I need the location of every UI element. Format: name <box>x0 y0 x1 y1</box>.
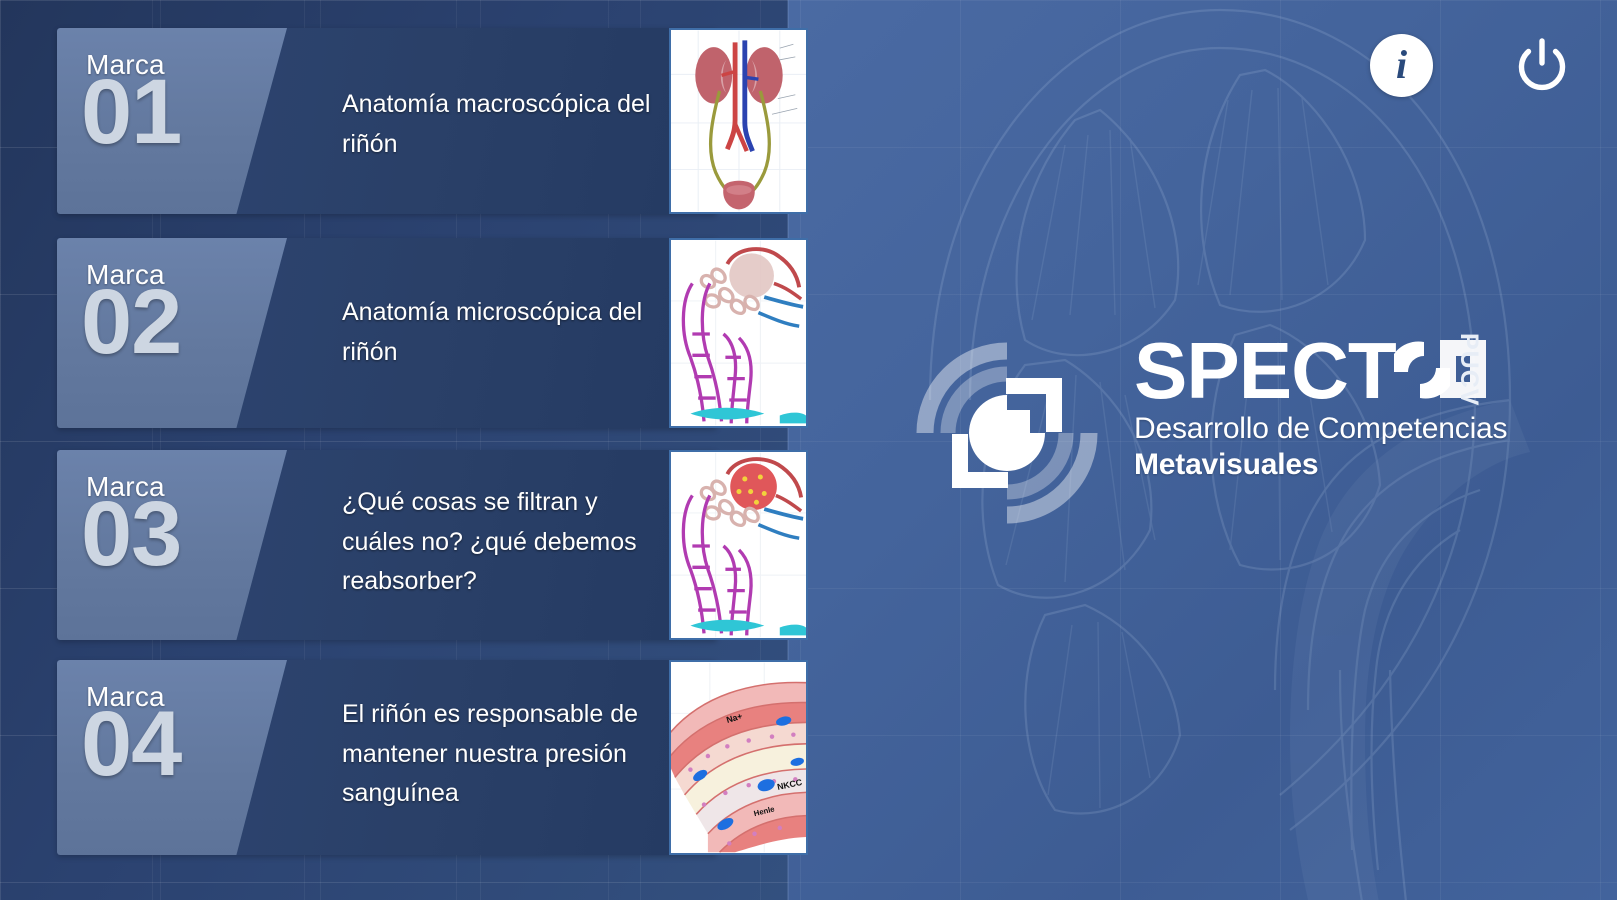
card-title: Anatomía microscópica del riñón <box>342 293 662 372</box>
info-icon: i <box>1370 34 1433 97</box>
logo-subtitle-line2: Metavisuales <box>1134 448 1514 482</box>
pucv-label: PUCV <box>1454 333 1483 406</box>
top-toolbar: i <box>1370 34 1573 97</box>
specto-wordmark-block: SPECT PUCV Desarrollo de Competencias Me… <box>1134 330 1514 482</box>
specto-wordmark: SPECT PUCV <box>1134 330 1514 416</box>
card-marker-number: 01 <box>81 66 181 158</box>
card-marker-number: 02 <box>81 276 181 368</box>
list-item[interactable]: Marca 03 ¿Qué cosas se filtran y cuáles … <box>57 450 775 640</box>
nephron-glomerulus-diagram <box>671 452 806 638</box>
power-icon <box>1511 35 1573 97</box>
card-title: El riñón es responsable de mantener nues… <box>342 695 662 814</box>
card-thumbnail[interactable] <box>669 238 808 428</box>
card-thumbnail[interactable] <box>669 28 808 214</box>
card-marker-number: 03 <box>81 488 181 580</box>
card-title: Anatomía macroscópica del riñón <box>342 85 662 164</box>
tubule-wall-cross-section: Na+ NKCC Henle <box>671 662 806 853</box>
list-item[interactable]: Marca 01 Anatomía macroscópica del riñón <box>57 28 775 214</box>
card-thumbnail[interactable] <box>669 450 808 640</box>
info-icon-letter: i <box>1396 45 1407 85</box>
logo-subtitle-line1: Desarrollo de Competencias <box>1134 412 1514 446</box>
card-title: ¿Qué cosas se filtran y cuáles no? ¿qué … <box>342 483 662 602</box>
power-button[interactable] <box>1511 35 1573 97</box>
svg-text:SPECT: SPECT <box>1134 330 1397 414</box>
card-body: Marca 03 ¿Qué cosas se filtran y cuáles … <box>57 450 717 640</box>
list-item[interactable]: Marca 02 Anatomía microscópica del riñón <box>57 238 775 428</box>
card-body: Marca 04 El riñón es responsable de mant… <box>57 660 717 855</box>
specto-shutter-logo <box>912 338 1102 528</box>
card-thumbnail[interactable]: Na+ NKCC Henle <box>669 660 808 855</box>
card-marker-number: 04 <box>81 698 181 790</box>
nephron-diagram <box>671 240 806 426</box>
urinary-system-diagram <box>671 30 806 212</box>
specto-logo: SPECT PUCV Desarrollo de Competencias Me… <box>912 330 1512 530</box>
marker-list: Marca 01 Anatomía macroscópica del riñón <box>57 0 777 900</box>
app-root: i Marca 01 Anatomía macroscópica del riñ… <box>0 0 1617 900</box>
list-item[interactable]: Marca 04 El riñón es responsable de mant… <box>57 660 775 855</box>
card-body: Marca 01 Anatomía macroscópica del riñón <box>57 28 717 214</box>
card-body: Marca 02 Anatomía microscópica del riñón <box>57 238 717 428</box>
info-button[interactable]: i <box>1370 34 1433 97</box>
